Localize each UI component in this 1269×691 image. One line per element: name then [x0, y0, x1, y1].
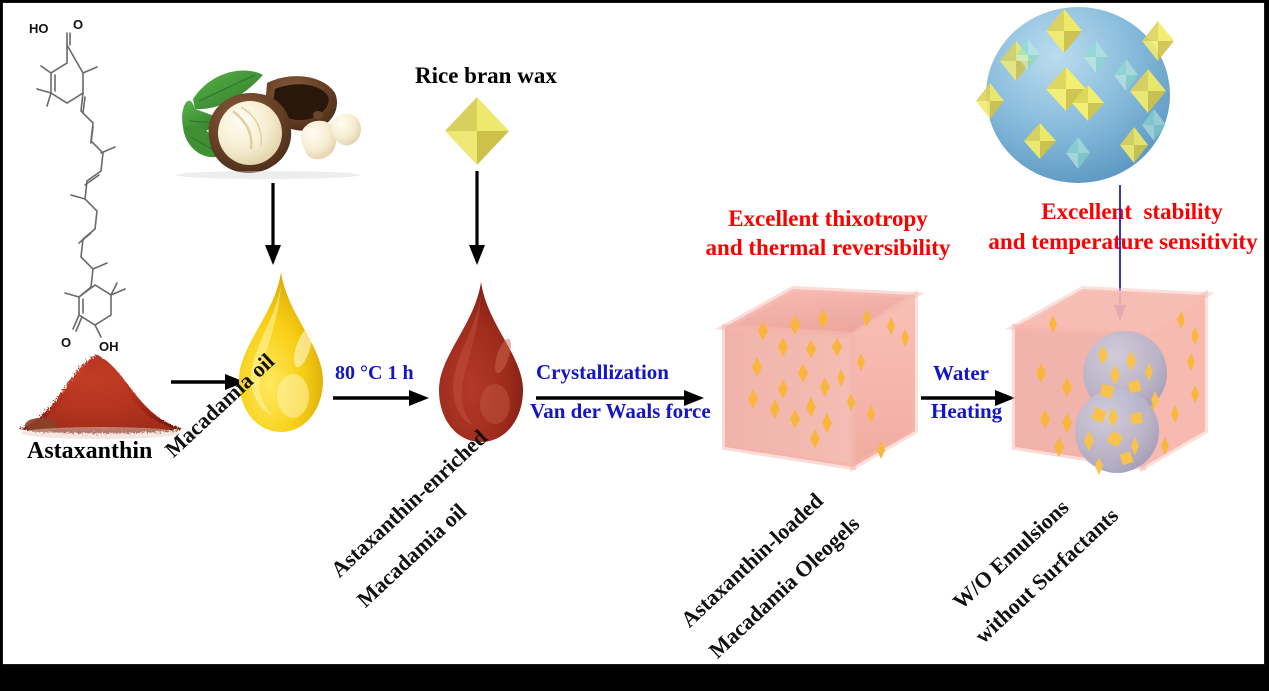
atom-label-o-top: O [73, 17, 83, 32]
arrow-oil-to-enriched [333, 387, 431, 409]
rice-bran-wax-label: Rice bran wax [415, 63, 557, 89]
water-label: Water [933, 361, 989, 386]
astaxanthin-powder-image [11, 333, 191, 443]
arrow-nuts-to-oil [261, 183, 285, 267]
heating-label: Heating [931, 399, 1002, 424]
crystallization-label: Crystallization [536, 360, 669, 385]
arrow-wax-to-droplet [465, 171, 489, 267]
astaxanthin-enriched-oil-droplet [431, 278, 531, 448]
thixotropy-callout-line1: Excellent thixotropy [693, 206, 963, 232]
stability-callout-line1: Excellent stability [1003, 199, 1261, 225]
atom-label-ho: HO [29, 21, 49, 36]
thixotropy-callout-line2: and thermal reversibility [689, 235, 967, 261]
oleogel-cube [715, 281, 925, 481]
figure-canvas: HO O O OH Astaxanthin [0, 0, 1269, 691]
macadamia-oil-droplet [231, 268, 331, 438]
emulsion-cube [1005, 281, 1215, 481]
rice-bran-wax-crystal [440, 95, 514, 167]
vdw-force-label: Van der Waals force [530, 399, 711, 424]
figure-sheet: HO O O OH Astaxanthin [2, 2, 1265, 665]
temperature-condition-label: 80 °C 1 h [335, 361, 414, 385]
macadamia-nuts-image [171, 45, 366, 180]
wax-crystal-sphere [968, 5, 1188, 191]
astaxanthin-label: Astaxanthin [27, 438, 152, 465]
astaxanthin-structure: HO O O OH [21, 11, 151, 366]
water-droplet-lower [1075, 389, 1159, 473]
